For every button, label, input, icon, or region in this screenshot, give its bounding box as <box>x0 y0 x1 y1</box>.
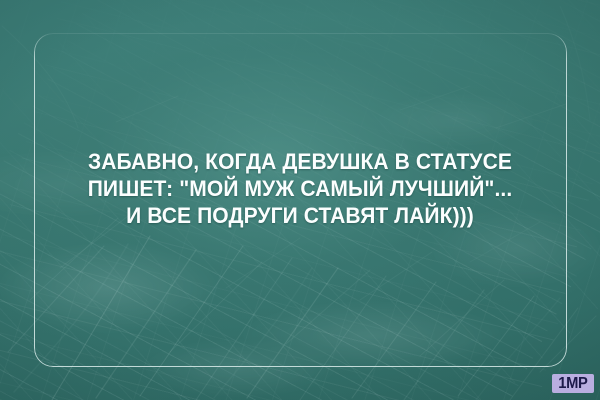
quote-line-3: И ВСЕ ПОДРУГИ СТАВЯТ ЛАЙК))) <box>20 202 581 229</box>
watermark-badge: 1MP <box>552 374 594 393</box>
quote-line-1: ЗАБАВНО, КОГДА ДЕВУШКА В СТАТУСЕ <box>20 148 581 175</box>
quote-line-2: ПИШЕТ: "МОЙ МУЖ САМЫЙ ЛУЧШИЙ"... <box>20 175 581 202</box>
quote-text-block: ЗАБАВНО, КОГДА ДЕВУШКА В СТАТУСЕ ПИШЕТ: … <box>20 148 581 229</box>
chalkboard-quote-card: ЗАБАВНО, КОГДА ДЕВУШКА В СТАТУСЕ ПИШЕТ: … <box>0 0 600 400</box>
watermark-label: 1MP <box>558 376 587 392</box>
